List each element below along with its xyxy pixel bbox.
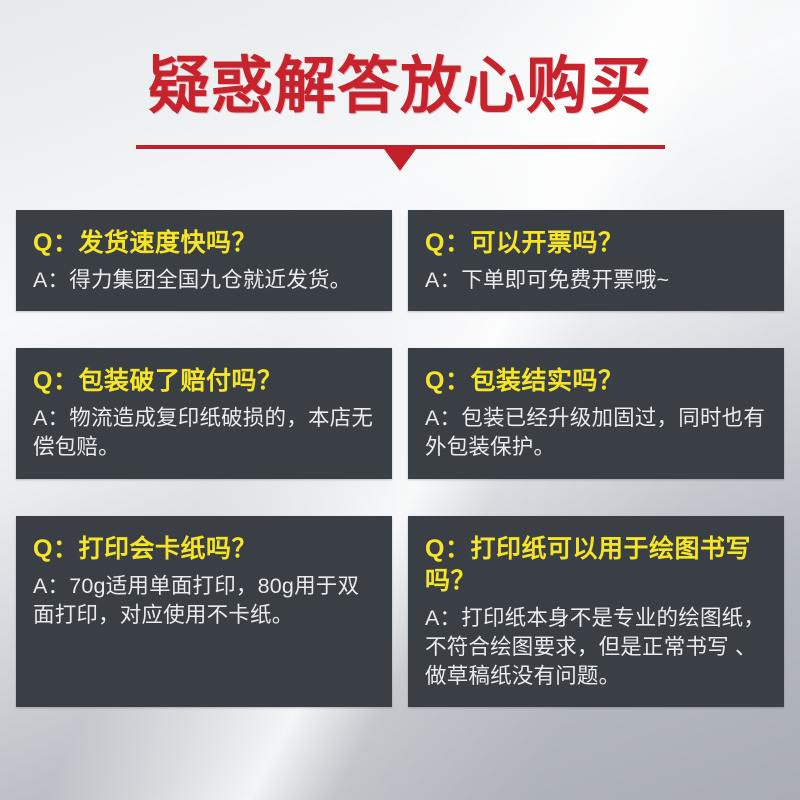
faq-question: Q：包装结实吗？ [425,365,767,397]
faq-answer: A：得力集团全国九仓就近发货。 [33,266,375,295]
faq-card[interactable]: Q：打印纸可以用于绘图书写吗？ A：打印纸本身不是专业的绘图纸，不符合绘图要求，… [408,516,784,708]
faq-card[interactable]: Q：发货速度快吗？ A：得力集团全国九仓就近发货。 [16,210,392,311]
title-divider [0,140,800,180]
page-title: 疑惑解答放心购买 [0,52,800,121]
faq-question: Q：包装破了赔付吗？ [33,365,375,397]
faq-card[interactable]: Q：打印会卡纸吗？ A：70g适用单面打印，80g用于双面打印，对应使用不卡纸。 [16,516,392,708]
faq-answer: A：下单即可免费开票哦~ [425,266,767,295]
faq-question: Q：发货速度快吗？ [33,227,375,259]
faq-answer: A：包装已经升级加固过，同时也有外包装保护。 [425,404,767,462]
faq-question: Q：可以开票吗？ [425,227,767,259]
faq-card[interactable]: Q：包装结实吗？ A：包装已经升级加固过，同时也有外包装保护。 [408,348,784,478]
faq-answer: A：70g适用单面打印，80g用于双面打印，对应使用不卡纸。 [33,572,375,630]
page-title-block: 疑惑解答放心购买 [0,52,800,121]
faq-question: Q：打印纸可以用于绘图书写吗？ [425,533,767,597]
faq-page: 疑惑解答放心购买 Q：发货速度快吗？ A：得力集团全国九仓就近发货。 Q：可以开… [0,0,800,800]
faq-answer: A：打印纸本身不是专业的绘图纸，不符合绘图要求，但是正常书写 、做草稿纸没有问题… [425,604,767,692]
down-triangle-icon [384,149,416,171]
faq-answer: A：物流造成复印纸破损的，本店无偿包赔。 [33,404,375,462]
faq-grid: Q：发货速度快吗？ A：得力集团全国九仓就近发货。 Q：可以开票吗？ A：下单即… [16,210,784,707]
faq-question: Q：打印会卡纸吗？ [33,533,375,565]
faq-card[interactable]: Q：包装破了赔付吗？ A：物流造成复印纸破损的，本店无偿包赔。 [16,348,392,478]
faq-card[interactable]: Q：可以开票吗？ A：下单即可免费开票哦~ [408,210,784,311]
